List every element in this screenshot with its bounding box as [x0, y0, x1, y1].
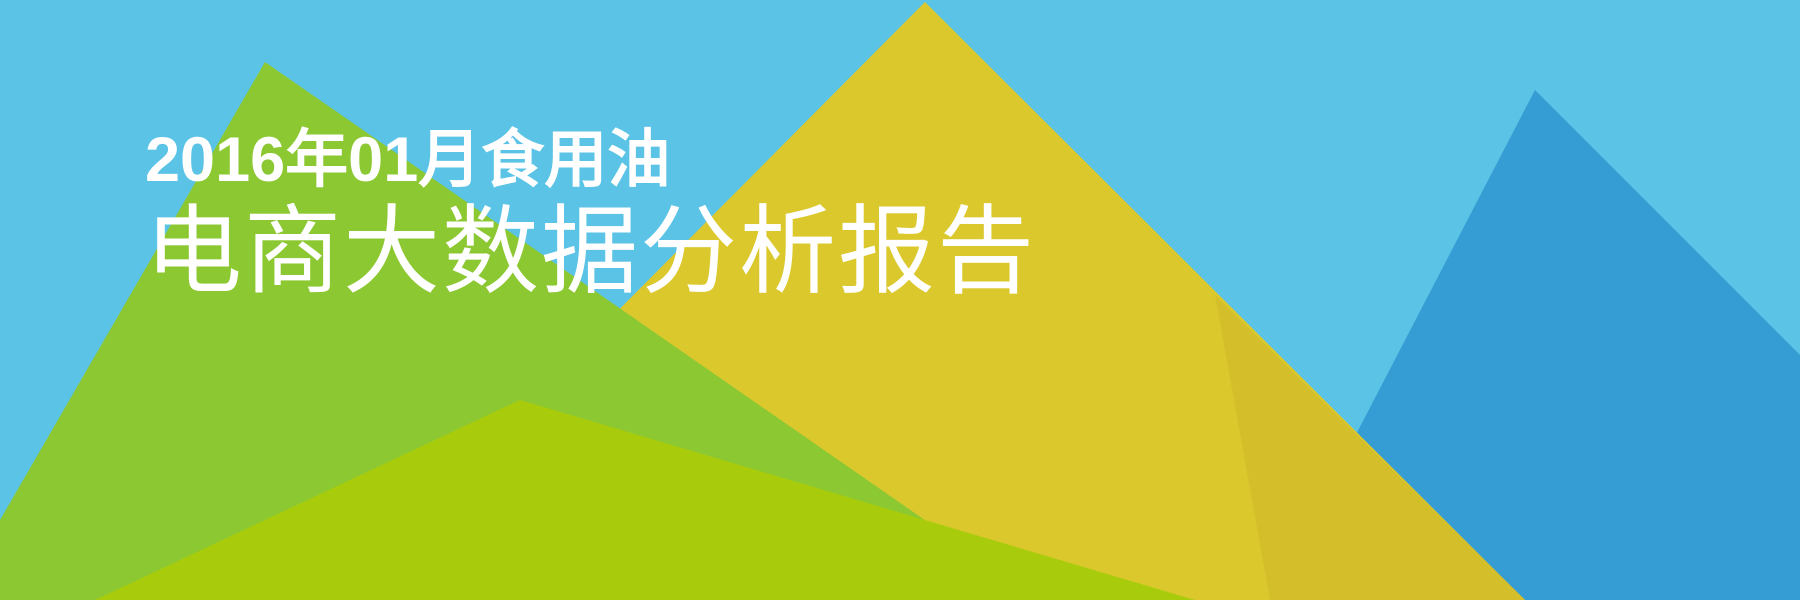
banner-title-block: 2016年01月食用油 电商大数据分析报告 — [145, 128, 1036, 305]
banner-title-line-2: 电商大数据分析报告 — [145, 200, 1036, 305]
report-cover-banner: 2016年01月食用油 电商大数据分析报告 — [0, 0, 1800, 600]
banner-title-line-1: 2016年01月食用油 — [145, 128, 1036, 192]
